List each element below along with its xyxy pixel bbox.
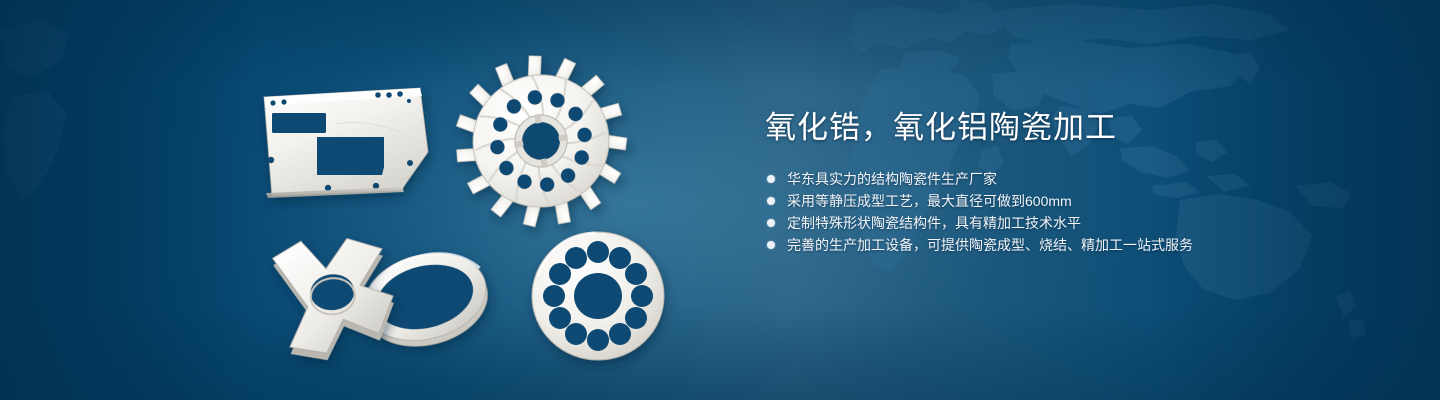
hero-banner: 氧化锆，氧化铝陶瓷加工 华东具实力的结构陶瓷件生产厂家 采用等静压成型工艺，最大… [0, 0, 1440, 400]
list-item: 采用等静压成型工艺，最大直径可做到600mm [765, 190, 1385, 212]
feature-text: 定制特殊形状陶瓷结构件，具有精加工技术水平 [787, 212, 1081, 234]
list-item: 定制特殊形状陶瓷结构件，具有精加工技术水平 [765, 212, 1385, 234]
feature-text: 采用等静压成型工艺，最大直径可做到600mm [787, 190, 1072, 212]
feature-text: 完善的生产加工设备，可提供陶瓷成型、烧结、精加工一站式服务 [787, 234, 1193, 256]
feature-list: 华东具实力的结构陶瓷件生产厂家 采用等静压成型工艺，最大直径可做到600mm 定… [765, 168, 1385, 256]
ceramic-perforated-disc-part [532, 232, 664, 360]
product-photo-group [0, 0, 760, 400]
feature-text: 华东具实力的结构陶瓷件生产厂家 [787, 168, 997, 190]
bullet-dot-icon [767, 175, 775, 183]
list-item: 华东具实力的结构陶瓷件生产厂家 [765, 168, 1385, 190]
bullet-dot-icon [767, 241, 775, 249]
bullet-dot-icon [767, 197, 775, 205]
ceramic-cross-plate-part [271, 232, 399, 364]
list-item: 完善的生产加工设备，可提供陶瓷成型、烧结、精加工一站式服务 [765, 234, 1385, 256]
ceramic-impeller-part [443, 44, 638, 239]
page-title: 氧化锆，氧化铝陶瓷加工 [765, 108, 1385, 148]
banner-copy: 氧化锆，氧化铝陶瓷加工 华东具实力的结构陶瓷件生产厂家 采用等静压成型工艺，最大… [765, 108, 1385, 256]
bullet-dot-icon [767, 219, 775, 227]
ceramic-plate-part [264, 88, 428, 198]
